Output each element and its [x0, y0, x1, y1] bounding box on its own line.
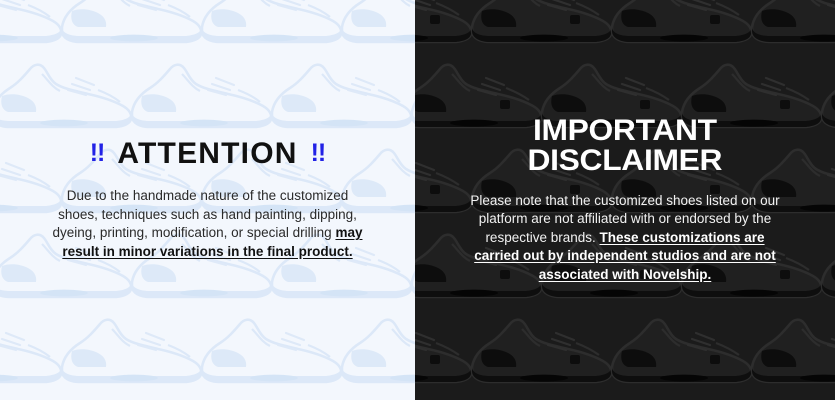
attention-panel: !! ATTENTION !! Due to the handmade natu…	[0, 0, 415, 400]
attention-content: !! ATTENTION !! Due to the handmade natu…	[0, 0, 415, 400]
disclaimer-content: IMPORTANT DISCLAIMER Please note that th…	[415, 0, 835, 400]
attention-title: ATTENTION	[117, 139, 297, 169]
attention-body: Due to the handmade nature of the custom…	[53, 187, 363, 261]
disclaimer-heading: IMPORTANT DISCLAIMER	[528, 116, 723, 176]
disclaimer-panel: IMPORTANT DISCLAIMER Please note that th…	[415, 0, 835, 400]
attention-body-normal: Due to the handmade nature of the custom…	[53, 188, 357, 240]
disclaimer-heading-line1: IMPORTANT	[528, 116, 723, 146]
attention-heading: !! ATTENTION !!	[90, 139, 326, 169]
disclaimer-heading-line2: DISCLAIMER	[528, 146, 723, 176]
disclaimer-body: Please note that the customized shoes li…	[465, 192, 785, 285]
disclaimer-banner: !! ATTENTION !! Due to the handmade natu…	[0, 0, 835, 400]
bangs-right-icon: !!	[311, 141, 326, 166]
bangs-left-icon: !!	[90, 141, 105, 166]
